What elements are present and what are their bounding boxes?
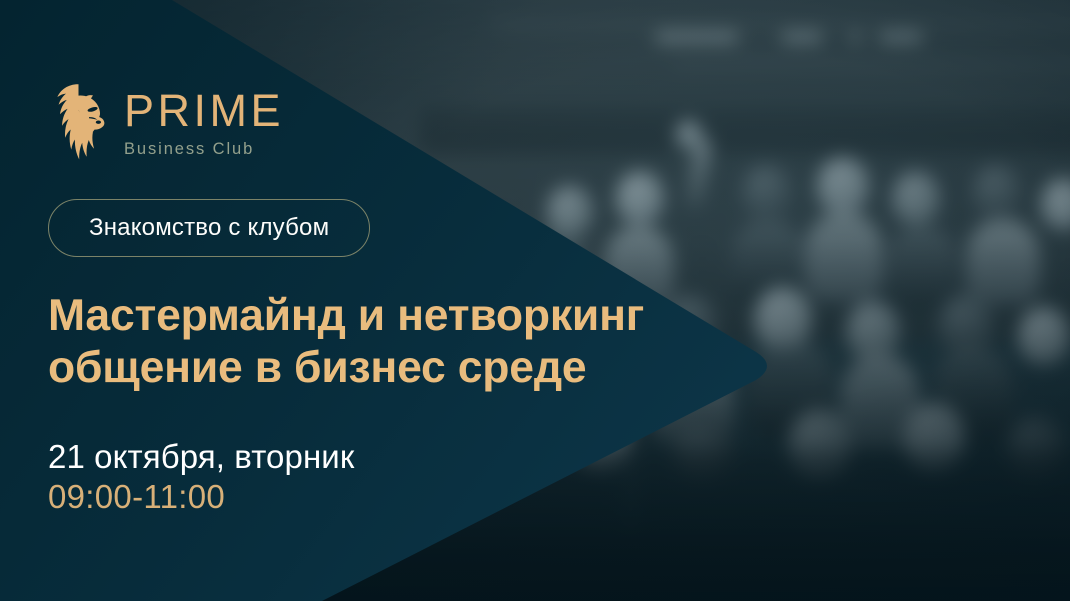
event-datetime: 21 октября, вторник 09:00-11:00 [48, 437, 640, 518]
event-promo-banner: PRIME Business Club Знакомство с клубом … [0, 0, 1070, 601]
event-headline: Мастермайнд и нетворкинг общение в бизне… [48, 290, 640, 393]
event-category-badge[interactable]: Знакомство с клубом [48, 199, 370, 257]
brand-name: PRIME [124, 88, 284, 133]
headline-line-2: общение в бизнес среде [48, 342, 640, 394]
headline-line-1: Мастермайнд и нетворкинг [48, 290, 640, 342]
lion-head-icon [48, 82, 110, 162]
event-time: 09:00-11:00 [48, 477, 640, 517]
brand-wordmark: PRIME Business Club [124, 86, 284, 158]
event-date: 21 октября, вторник [48, 437, 640, 477]
banner-content: PRIME Business Club Знакомство с клубом … [0, 0, 640, 601]
brand-logo: PRIME Business Club [48, 78, 640, 166]
brand-subtitle: Business Club [124, 141, 284, 158]
